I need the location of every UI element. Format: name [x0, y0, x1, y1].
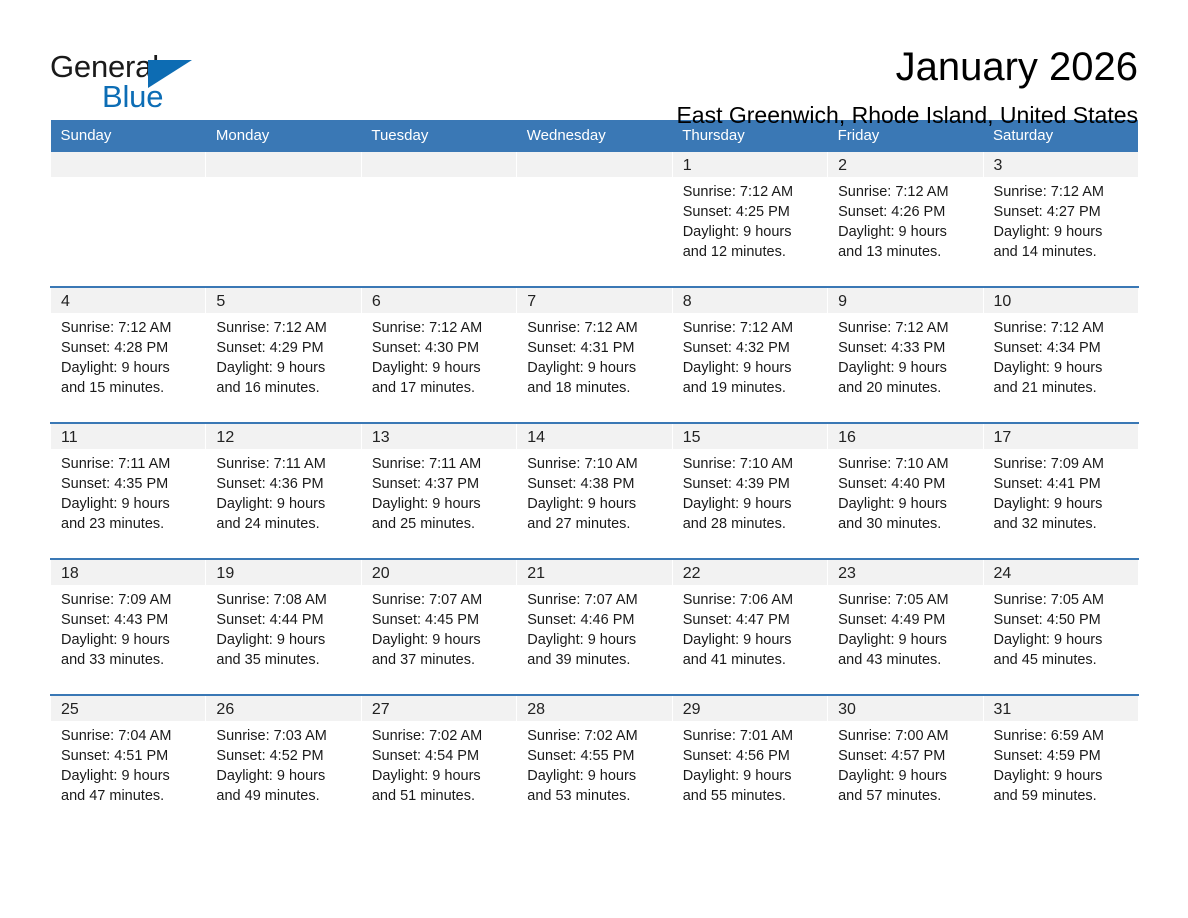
- day-detail-line: and 45 minutes.: [994, 650, 1138, 670]
- day-detail-line: and 55 minutes.: [683, 786, 827, 806]
- day-1: 1Sunrise: 7:12 AMSunset: 4:25 PMDaylight…: [673, 152, 827, 286]
- day-detail-line: Sunset: 4:32 PM: [683, 338, 827, 358]
- calendar-day-cell[interactable]: 16Sunrise: 7:10 AMSunset: 4:40 PMDayligh…: [828, 423, 983, 559]
- calendar-day-cell[interactable]: 14Sunrise: 7:10 AMSunset: 4:38 PMDayligh…: [517, 423, 672, 559]
- calendar-day-cell[interactable]: 3Sunrise: 7:12 AMSunset: 4:27 PMDaylight…: [983, 152, 1138, 287]
- day-10: 10Sunrise: 7:12 AMSunset: 4:34 PMDayligh…: [984, 288, 1138, 422]
- calendar-day-cell[interactable]: 19Sunrise: 7:08 AMSunset: 4:44 PMDayligh…: [206, 559, 361, 695]
- day-13: 13Sunrise: 7:11 AMSunset: 4:37 PMDayligh…: [362, 424, 516, 558]
- weekday-header-tuesday: Tuesday: [361, 120, 516, 152]
- day-number: 28: [517, 696, 671, 721]
- day-number: 24: [984, 560, 1138, 585]
- title-block: January 2026 East Greenwich, Rhode Islan…: [676, 44, 1138, 130]
- day-number: 17: [984, 424, 1138, 449]
- calendar-body: 1Sunrise: 7:12 AMSunset: 4:25 PMDaylight…: [51, 152, 1139, 830]
- day-details: Sunrise: 7:08 AMSunset: 4:44 PMDaylight:…: [206, 585, 360, 670]
- day-8: 8Sunrise: 7:12 AMSunset: 4:32 PMDaylight…: [673, 288, 827, 422]
- day-number: 10: [984, 288, 1138, 313]
- day-details: [517, 177, 671, 182]
- calendar-day-cell[interactable]: 31Sunrise: 6:59 AMSunset: 4:59 PMDayligh…: [983, 695, 1138, 830]
- day-detail-line: Daylight: 9 hours: [683, 494, 827, 514]
- day-number: 21: [517, 560, 671, 585]
- day-details: Sunrise: 7:12 AMSunset: 4:31 PMDaylight:…: [517, 313, 671, 398]
- weekday-header-wednesday: Wednesday: [517, 120, 672, 152]
- day-details: [51, 177, 205, 182]
- day-number: 26: [206, 696, 360, 721]
- day-detail-line: Daylight: 9 hours: [994, 358, 1138, 378]
- day-detail-line: Sunset: 4:35 PM: [61, 474, 205, 494]
- calendar-day-cell[interactable]: 9Sunrise: 7:12 AMSunset: 4:33 PMDaylight…: [828, 287, 983, 423]
- day-detail-line: Daylight: 9 hours: [994, 766, 1138, 786]
- day-details: [362, 177, 516, 182]
- calendar-day-cell[interactable]: 30Sunrise: 7:00 AMSunset: 4:57 PMDayligh…: [828, 695, 983, 830]
- day-detail-line: Sunrise: 7:12 AM: [994, 318, 1138, 338]
- day-7: 7Sunrise: 7:12 AMSunset: 4:31 PMDaylight…: [517, 288, 671, 422]
- day-detail-line: Sunrise: 7:12 AM: [216, 318, 360, 338]
- day-detail-line: and 16 minutes.: [216, 378, 360, 398]
- day-details: Sunrise: 7:12 AMSunset: 4:29 PMDaylight:…: [206, 313, 360, 398]
- calendar-day-cell[interactable]: 18Sunrise: 7:09 AMSunset: 4:43 PMDayligh…: [51, 559, 206, 695]
- calendar-day-cell[interactable]: 6Sunrise: 7:12 AMSunset: 4:30 PMDaylight…: [361, 287, 516, 423]
- day-number: 8: [673, 288, 827, 313]
- calendar-day-cell[interactable]: 24Sunrise: 7:05 AMSunset: 4:50 PMDayligh…: [983, 559, 1138, 695]
- day-detail-line: Sunset: 4:49 PM: [838, 610, 982, 630]
- day-16: 16Sunrise: 7:10 AMSunset: 4:40 PMDayligh…: [828, 424, 982, 558]
- day-number: 31: [984, 696, 1138, 721]
- day-23: 23Sunrise: 7:05 AMSunset: 4:49 PMDayligh…: [828, 560, 982, 694]
- day-detail-line: Sunrise: 7:12 AM: [838, 182, 982, 202]
- day-detail-line: Daylight: 9 hours: [527, 766, 671, 786]
- calendar-day-cell[interactable]: 20Sunrise: 7:07 AMSunset: 4:45 PMDayligh…: [361, 559, 516, 695]
- empty-day: [517, 152, 671, 286]
- day-detail-line: and 21 minutes.: [994, 378, 1138, 398]
- day-details: Sunrise: 7:00 AMSunset: 4:57 PMDaylight:…: [828, 721, 982, 806]
- day-22: 22Sunrise: 7:06 AMSunset: 4:47 PMDayligh…: [673, 560, 827, 694]
- day-detail-line: Sunset: 4:55 PM: [527, 746, 671, 766]
- day-details: Sunrise: 7:03 AMSunset: 4:52 PMDaylight:…: [206, 721, 360, 806]
- day-detail-line: Sunrise: 7:07 AM: [527, 590, 671, 610]
- day-details: Sunrise: 7:10 AMSunset: 4:40 PMDaylight:…: [828, 449, 982, 534]
- day-detail-line: and 32 minutes.: [994, 514, 1138, 534]
- day-number: 13: [362, 424, 516, 449]
- day-detail-line: Sunrise: 7:04 AM: [61, 726, 205, 746]
- day-detail-line: and 37 minutes.: [372, 650, 516, 670]
- day-number: 11: [51, 424, 205, 449]
- triangle-icon: [148, 60, 192, 88]
- day-detail-line: Sunrise: 7:01 AM: [683, 726, 827, 746]
- day-20: 20Sunrise: 7:07 AMSunset: 4:45 PMDayligh…: [362, 560, 516, 694]
- day-detail-line: Sunset: 4:28 PM: [61, 338, 205, 358]
- day-details: Sunrise: 6:59 AMSunset: 4:59 PMDaylight:…: [984, 721, 1138, 806]
- day-details: [206, 177, 360, 182]
- day-4: 4Sunrise: 7:12 AMSunset: 4:28 PMDaylight…: [51, 288, 205, 422]
- day-detail-line: Sunrise: 7:05 AM: [994, 590, 1138, 610]
- day-number: [206, 152, 360, 177]
- day-detail-line: and 51 minutes.: [372, 786, 516, 806]
- calendar-week-row: 4Sunrise: 7:12 AMSunset: 4:28 PMDaylight…: [51, 287, 1139, 423]
- day-detail-line: Sunset: 4:52 PM: [216, 746, 360, 766]
- day-details: Sunrise: 7:11 AMSunset: 4:37 PMDaylight:…: [362, 449, 516, 534]
- day-details: Sunrise: 7:11 AMSunset: 4:35 PMDaylight:…: [51, 449, 205, 534]
- day-detail-line: Sunset: 4:36 PM: [216, 474, 360, 494]
- day-details: Sunrise: 7:10 AMSunset: 4:38 PMDaylight:…: [517, 449, 671, 534]
- day-detail-line: Sunset: 4:39 PM: [683, 474, 827, 494]
- day-detail-line: Sunset: 4:34 PM: [994, 338, 1138, 358]
- calendar-day-cell[interactable]: 1Sunrise: 7:12 AMSunset: 4:25 PMDaylight…: [672, 152, 827, 287]
- day-detail-line: Sunrise: 7:10 AM: [838, 454, 982, 474]
- calendar-day-cell[interactable]: 25Sunrise: 7:04 AMSunset: 4:51 PMDayligh…: [51, 695, 206, 830]
- weekday-header-sunday: Sunday: [51, 120, 206, 152]
- day-number: 2: [828, 152, 982, 177]
- day-detail-line: Daylight: 9 hours: [994, 222, 1138, 242]
- day-detail-line: Sunrise: 7:12 AM: [372, 318, 516, 338]
- calendar-day-cell[interactable]: 15Sunrise: 7:10 AMSunset: 4:39 PMDayligh…: [672, 423, 827, 559]
- day-number: 16: [828, 424, 982, 449]
- day-number: 6: [362, 288, 516, 313]
- day-number: 20: [362, 560, 516, 585]
- day-detail-line: Sunset: 4:56 PM: [683, 746, 827, 766]
- day-detail-line: Daylight: 9 hours: [994, 630, 1138, 650]
- day-details: Sunrise: 7:12 AMSunset: 4:27 PMDaylight:…: [984, 177, 1138, 262]
- calendar-week-row: 18Sunrise: 7:09 AMSunset: 4:43 PMDayligh…: [51, 559, 1139, 695]
- day-detail-line: Daylight: 9 hours: [372, 766, 516, 786]
- day-detail-line: Daylight: 9 hours: [838, 630, 982, 650]
- day-number: 9: [828, 288, 982, 313]
- day-details: Sunrise: 7:12 AMSunset: 4:28 PMDaylight:…: [51, 313, 205, 398]
- day-details: Sunrise: 7:06 AMSunset: 4:47 PMDaylight:…: [673, 585, 827, 670]
- day-detail-line: Sunrise: 7:05 AM: [838, 590, 982, 610]
- calendar-day-cell[interactable]: 12Sunrise: 7:11 AMSunset: 4:36 PMDayligh…: [206, 423, 361, 559]
- day-30: 30Sunrise: 7:00 AMSunset: 4:57 PMDayligh…: [828, 696, 982, 830]
- day-detail-line: Sunset: 4:50 PM: [994, 610, 1138, 630]
- day-detail-line: Sunset: 4:29 PM: [216, 338, 360, 358]
- day-detail-line: and 24 minutes.: [216, 514, 360, 534]
- day-number: 25: [51, 696, 205, 721]
- location-subtitle: East Greenwich, Rhode Island, United Sta…: [676, 100, 1138, 130]
- calendar-day-cell[interactable]: [361, 152, 516, 287]
- day-detail-line: Sunrise: 7:11 AM: [61, 454, 205, 474]
- day-number: 22: [673, 560, 827, 585]
- day-6: 6Sunrise: 7:12 AMSunset: 4:30 PMDaylight…: [362, 288, 516, 422]
- day-detail-line: Sunset: 4:27 PM: [994, 202, 1138, 222]
- day-25: 25Sunrise: 7:04 AMSunset: 4:51 PMDayligh…: [51, 696, 205, 830]
- calendar-day-cell[interactable]: [517, 152, 672, 287]
- day-detail-line: Daylight: 9 hours: [216, 494, 360, 514]
- day-detail-line: Daylight: 9 hours: [683, 358, 827, 378]
- day-detail-line: Sunset: 4:40 PM: [838, 474, 982, 494]
- day-detail-line: and 57 minutes.: [838, 786, 982, 806]
- day-detail-line: Daylight: 9 hours: [61, 766, 205, 786]
- day-number: 5: [206, 288, 360, 313]
- day-detail-line: Sunrise: 7:10 AM: [683, 454, 827, 474]
- day-detail-line: and 33 minutes.: [61, 650, 205, 670]
- day-detail-line: Sunset: 4:25 PM: [683, 202, 827, 222]
- brand-logo[interactable]: General Blue: [50, 44, 260, 120]
- day-detail-line: and 12 minutes.: [683, 242, 827, 262]
- day-detail-line: Daylight: 9 hours: [683, 766, 827, 786]
- day-detail-line: and 17 minutes.: [372, 378, 516, 398]
- day-detail-line: and 47 minutes.: [61, 786, 205, 806]
- calendar-day-cell[interactable]: 27Sunrise: 7:02 AMSunset: 4:54 PMDayligh…: [361, 695, 516, 830]
- day-detail-line: Sunset: 4:33 PM: [838, 338, 982, 358]
- day-details: Sunrise: 7:12 AMSunset: 4:26 PMDaylight:…: [828, 177, 982, 262]
- day-detail-line: and 23 minutes.: [61, 514, 205, 534]
- day-detail-line: and 30 minutes.: [838, 514, 982, 534]
- day-detail-line: Sunrise: 7:12 AM: [61, 318, 205, 338]
- day-detail-line: Sunrise: 7:07 AM: [372, 590, 516, 610]
- day-details: Sunrise: 7:02 AMSunset: 4:54 PMDaylight:…: [362, 721, 516, 806]
- day-detail-line: Daylight: 9 hours: [683, 630, 827, 650]
- day-number: [51, 152, 205, 177]
- day-detail-line: and 28 minutes.: [683, 514, 827, 534]
- day-24: 24Sunrise: 7:05 AMSunset: 4:50 PMDayligh…: [984, 560, 1138, 694]
- day-detail-line: and 35 minutes.: [216, 650, 360, 670]
- day-27: 27Sunrise: 7:02 AMSunset: 4:54 PMDayligh…: [362, 696, 516, 830]
- day-detail-line: Sunrise: 7:11 AM: [372, 454, 516, 474]
- empty-day: [51, 152, 205, 286]
- day-number: 12: [206, 424, 360, 449]
- empty-day: [206, 152, 360, 286]
- day-detail-line: and 14 minutes.: [994, 242, 1138, 262]
- day-number: [517, 152, 671, 177]
- day-number: 29: [673, 696, 827, 721]
- day-detail-line: Sunset: 4:26 PM: [838, 202, 982, 222]
- day-26: 26Sunrise: 7:03 AMSunset: 4:52 PMDayligh…: [206, 696, 360, 830]
- day-detail-line: Daylight: 9 hours: [372, 358, 516, 378]
- day-detail-line: Sunset: 4:38 PM: [527, 474, 671, 494]
- calendar-page: General Blue January 2026 East Greenwich…: [0, 0, 1188, 918]
- day-number: 7: [517, 288, 671, 313]
- day-details: Sunrise: 7:07 AMSunset: 4:45 PMDaylight:…: [362, 585, 516, 670]
- day-detail-line: Sunrise: 7:06 AM: [683, 590, 827, 610]
- day-detail-line: Sunset: 4:41 PM: [994, 474, 1138, 494]
- day-detail-line: Sunrise: 7:02 AM: [372, 726, 516, 746]
- day-28: 28Sunrise: 7:02 AMSunset: 4:55 PMDayligh…: [517, 696, 671, 830]
- day-number: 19: [206, 560, 360, 585]
- calendar-week-row: 11Sunrise: 7:11 AMSunset: 4:35 PMDayligh…: [51, 423, 1139, 559]
- day-details: Sunrise: 7:12 AMSunset: 4:33 PMDaylight:…: [828, 313, 982, 398]
- day-detail-line: Sunrise: 7:08 AM: [216, 590, 360, 610]
- page-header: General Blue January 2026 East Greenwich…: [50, 0, 1138, 104]
- day-detail-line: and 49 minutes.: [216, 786, 360, 806]
- day-detail-line: Sunrise: 7:00 AM: [838, 726, 982, 746]
- calendar-day-cell[interactable]: 26Sunrise: 7:03 AMSunset: 4:52 PMDayligh…: [206, 695, 361, 830]
- day-detail-line: Sunset: 4:37 PM: [372, 474, 516, 494]
- day-detail-line: Daylight: 9 hours: [216, 358, 360, 378]
- day-detail-line: Sunrise: 7:09 AM: [994, 454, 1138, 474]
- day-detail-line: Sunrise: 7:03 AM: [216, 726, 360, 746]
- day-12: 12Sunrise: 7:11 AMSunset: 4:36 PMDayligh…: [206, 424, 360, 558]
- day-detail-line: and 59 minutes.: [994, 786, 1138, 806]
- day-29: 29Sunrise: 7:01 AMSunset: 4:56 PMDayligh…: [673, 696, 827, 830]
- day-detail-line: and 20 minutes.: [838, 378, 982, 398]
- day-detail-line: Sunrise: 7:12 AM: [994, 182, 1138, 202]
- weekday-header-monday: Monday: [206, 120, 361, 152]
- day-17: 17Sunrise: 7:09 AMSunset: 4:41 PMDayligh…: [984, 424, 1138, 558]
- day-3: 3Sunrise: 7:12 AMSunset: 4:27 PMDaylight…: [984, 152, 1138, 286]
- day-detail-line: Sunrise: 7:11 AM: [216, 454, 360, 474]
- page-title: January 2026: [676, 44, 1138, 90]
- day-detail-line: Sunrise: 7:09 AM: [61, 590, 205, 610]
- day-11: 11Sunrise: 7:11 AMSunset: 4:35 PMDayligh…: [51, 424, 205, 558]
- day-15: 15Sunrise: 7:10 AMSunset: 4:39 PMDayligh…: [673, 424, 827, 558]
- day-number: 30: [828, 696, 982, 721]
- day-detail-line: Daylight: 9 hours: [61, 494, 205, 514]
- sunrise-sunset-calendar: Sunday Monday Tuesday Wednesday Thursday…: [50, 120, 1139, 830]
- day-detail-line: Sunset: 4:46 PM: [527, 610, 671, 630]
- day-number: [362, 152, 516, 177]
- day-detail-line: Sunset: 4:43 PM: [61, 610, 205, 630]
- calendar-day-cell[interactable]: 11Sunrise: 7:11 AMSunset: 4:35 PMDayligh…: [51, 423, 206, 559]
- day-detail-line: Sunset: 4:45 PM: [372, 610, 516, 630]
- day-detail-line: Daylight: 9 hours: [216, 766, 360, 786]
- day-detail-line: Sunset: 4:57 PM: [838, 746, 982, 766]
- day-details: Sunrise: 7:07 AMSunset: 4:46 PMDaylight:…: [517, 585, 671, 670]
- day-2: 2Sunrise: 7:12 AMSunset: 4:26 PMDaylight…: [828, 152, 982, 286]
- day-detail-line: and 15 minutes.: [61, 378, 205, 398]
- day-detail-line: and 43 minutes.: [838, 650, 982, 670]
- day-detail-line: Sunset: 4:59 PM: [994, 746, 1138, 766]
- day-details: Sunrise: 7:02 AMSunset: 4:55 PMDaylight:…: [517, 721, 671, 806]
- calendar-day-cell[interactable]: [206, 152, 361, 287]
- day-detail-line: Daylight: 9 hours: [527, 358, 671, 378]
- day-19: 19Sunrise: 7:08 AMSunset: 4:44 PMDayligh…: [206, 560, 360, 694]
- calendar-day-cell[interactable]: 13Sunrise: 7:11 AMSunset: 4:37 PMDayligh…: [361, 423, 516, 559]
- day-details: Sunrise: 7:04 AMSunset: 4:51 PMDaylight:…: [51, 721, 205, 806]
- calendar-day-cell[interactable]: 22Sunrise: 7:06 AMSunset: 4:47 PMDayligh…: [672, 559, 827, 695]
- day-detail-line: Daylight: 9 hours: [61, 630, 205, 650]
- day-details: Sunrise: 7:09 AMSunset: 4:43 PMDaylight:…: [51, 585, 205, 670]
- day-number: 15: [673, 424, 827, 449]
- day-details: Sunrise: 7:12 AMSunset: 4:30 PMDaylight:…: [362, 313, 516, 398]
- day-details: Sunrise: 7:11 AMSunset: 4:36 PMDaylight:…: [206, 449, 360, 534]
- day-detail-line: Daylight: 9 hours: [683, 222, 827, 242]
- day-details: Sunrise: 7:05 AMSunset: 4:49 PMDaylight:…: [828, 585, 982, 670]
- day-detail-line: Daylight: 9 hours: [372, 630, 516, 650]
- day-number: 4: [51, 288, 205, 313]
- day-detail-line: Sunrise: 7:12 AM: [683, 318, 827, 338]
- day-detail-line: Daylight: 9 hours: [994, 494, 1138, 514]
- calendar-day-cell[interactable]: 17Sunrise: 7:09 AMSunset: 4:41 PMDayligh…: [983, 423, 1138, 559]
- calendar-week-row: 25Sunrise: 7:04 AMSunset: 4:51 PMDayligh…: [51, 695, 1139, 830]
- calendar-day-cell[interactable]: 8Sunrise: 7:12 AMSunset: 4:32 PMDaylight…: [672, 287, 827, 423]
- day-number: 18: [51, 560, 205, 585]
- day-detail-line: Sunset: 4:51 PM: [61, 746, 205, 766]
- day-detail-line: Sunrise: 7:12 AM: [838, 318, 982, 338]
- calendar-week-row: 1Sunrise: 7:12 AMSunset: 4:25 PMDaylight…: [51, 152, 1139, 287]
- day-detail-line: Daylight: 9 hours: [216, 630, 360, 650]
- day-9: 9Sunrise: 7:12 AMSunset: 4:33 PMDaylight…: [828, 288, 982, 422]
- calendar-day-cell[interactable]: 4Sunrise: 7:12 AMSunset: 4:28 PMDaylight…: [51, 287, 206, 423]
- day-details: Sunrise: 7:10 AMSunset: 4:39 PMDaylight:…: [673, 449, 827, 534]
- day-14: 14Sunrise: 7:10 AMSunset: 4:38 PMDayligh…: [517, 424, 671, 558]
- calendar-day-cell[interactable]: 29Sunrise: 7:01 AMSunset: 4:56 PMDayligh…: [672, 695, 827, 830]
- day-detail-line: Sunset: 4:44 PM: [216, 610, 360, 630]
- day-detail-line: Sunrise: 7:12 AM: [683, 182, 827, 202]
- day-detail-line: and 39 minutes.: [527, 650, 671, 670]
- day-detail-line: Sunrise: 7:02 AM: [527, 726, 671, 746]
- day-detail-line: Daylight: 9 hours: [372, 494, 516, 514]
- day-number: 23: [828, 560, 982, 585]
- day-details: Sunrise: 7:05 AMSunset: 4:50 PMDaylight:…: [984, 585, 1138, 670]
- day-18: 18Sunrise: 7:09 AMSunset: 4:43 PMDayligh…: [51, 560, 205, 694]
- day-details: Sunrise: 7:12 AMSunset: 4:25 PMDaylight:…: [673, 177, 827, 262]
- day-details: Sunrise: 7:09 AMSunset: 4:41 PMDaylight:…: [984, 449, 1138, 534]
- day-detail-line: and 25 minutes.: [372, 514, 516, 534]
- day-detail-line: Sunset: 4:31 PM: [527, 338, 671, 358]
- day-number: 14: [517, 424, 671, 449]
- day-number: 3: [984, 152, 1138, 177]
- day-details: Sunrise: 7:12 AMSunset: 4:32 PMDaylight:…: [673, 313, 827, 398]
- day-number: 27: [362, 696, 516, 721]
- calendar-day-cell[interactable]: [51, 152, 206, 287]
- day-detail-line: Daylight: 9 hours: [838, 222, 982, 242]
- day-details: Sunrise: 7:12 AMSunset: 4:34 PMDaylight:…: [984, 313, 1138, 398]
- day-detail-line: and 18 minutes.: [527, 378, 671, 398]
- calendar-day-cell[interactable]: 10Sunrise: 7:12 AMSunset: 4:34 PMDayligh…: [983, 287, 1138, 423]
- day-details: Sunrise: 7:01 AMSunset: 4:56 PMDaylight:…: [673, 721, 827, 806]
- day-detail-line: Daylight: 9 hours: [838, 358, 982, 378]
- day-31: 31Sunrise: 6:59 AMSunset: 4:59 PMDayligh…: [984, 696, 1138, 830]
- day-detail-line: Sunrise: 6:59 AM: [994, 726, 1138, 746]
- day-21: 21Sunrise: 7:07 AMSunset: 4:46 PMDayligh…: [517, 560, 671, 694]
- day-number: 1: [673, 152, 827, 177]
- day-detail-line: Daylight: 9 hours: [527, 494, 671, 514]
- calendar-day-cell[interactable]: 7Sunrise: 7:12 AMSunset: 4:31 PMDaylight…: [517, 287, 672, 423]
- day-detail-line: and 27 minutes.: [527, 514, 671, 534]
- day-detail-line: Sunset: 4:30 PM: [372, 338, 516, 358]
- day-detail-line: Daylight: 9 hours: [61, 358, 205, 378]
- calendar-day-cell[interactable]: 5Sunrise: 7:12 AMSunset: 4:29 PMDaylight…: [206, 287, 361, 423]
- day-detail-line: Sunrise: 7:10 AM: [527, 454, 671, 474]
- day-detail-line: and 13 minutes.: [838, 242, 982, 262]
- calendar-day-cell[interactable]: 23Sunrise: 7:05 AMSunset: 4:49 PMDayligh…: [828, 559, 983, 695]
- calendar-day-cell[interactable]: 21Sunrise: 7:07 AMSunset: 4:46 PMDayligh…: [517, 559, 672, 695]
- calendar-day-cell[interactable]: 28Sunrise: 7:02 AMSunset: 4:55 PMDayligh…: [517, 695, 672, 830]
- empty-day: [362, 152, 516, 286]
- day-5: 5Sunrise: 7:12 AMSunset: 4:29 PMDaylight…: [206, 288, 360, 422]
- day-detail-line: Sunset: 4:54 PM: [372, 746, 516, 766]
- day-detail-line: and 19 minutes.: [683, 378, 827, 398]
- day-detail-line: and 53 minutes.: [527, 786, 671, 806]
- calendar-day-cell[interactable]: 2Sunrise: 7:12 AMSunset: 4:26 PMDaylight…: [828, 152, 983, 287]
- day-detail-line: Sunset: 4:47 PM: [683, 610, 827, 630]
- day-detail-line: Daylight: 9 hours: [838, 766, 982, 786]
- day-detail-line: Sunrise: 7:12 AM: [527, 318, 671, 338]
- day-detail-line: Daylight: 9 hours: [527, 630, 671, 650]
- day-detail-line: Daylight: 9 hours: [838, 494, 982, 514]
- day-detail-line: and 41 minutes.: [683, 650, 827, 670]
